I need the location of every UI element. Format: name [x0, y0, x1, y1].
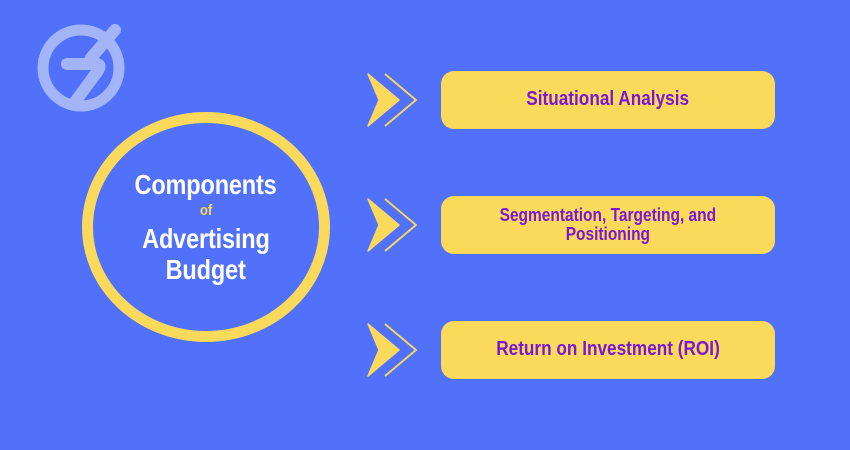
double-chevron-right-icon	[363, 196, 425, 254]
center-title-circle: Components of Advertising Budget	[82, 112, 330, 342]
center-title-line-1: Components	[135, 169, 277, 200]
infographic-canvas: Components of Advertising Budget Situati…	[0, 0, 850, 450]
brand-circle-swoosh-logo	[33, 14, 135, 116]
item-label-2: Segmentation, Targeting, and Positioning	[500, 206, 716, 245]
item-row-2: Segmentation, Targeting, and Positioning	[355, 195, 775, 255]
double-chevron-right-icon	[363, 71, 425, 129]
item-pill-2[interactable]: Segmentation, Targeting, and Positioning	[441, 196, 775, 254]
item-label-3: Return on Investment (ROI)	[496, 339, 720, 361]
item-row-3: Return on Investment (ROI)	[355, 320, 775, 380]
center-title-connector: of	[200, 201, 212, 221]
item-row-1: Situational Analysis	[355, 70, 775, 130]
item-label-1: Situational Analysis	[527, 89, 690, 111]
center-title-line-2: Advertising	[142, 223, 270, 254]
center-title-line-3: Budget	[166, 254, 246, 285]
double-chevron-right-icon	[363, 321, 425, 379]
item-pill-1[interactable]: Situational Analysis	[441, 71, 775, 129]
item-pill-3[interactable]: Return on Investment (ROI)	[441, 321, 775, 379]
